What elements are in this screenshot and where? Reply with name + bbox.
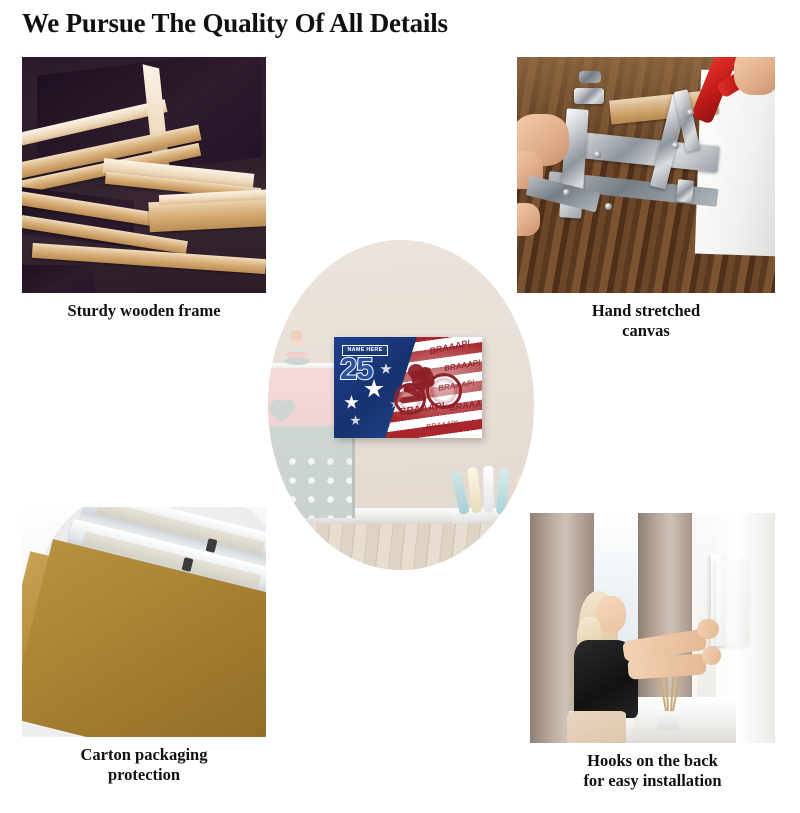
toy-stacking-rings [284, 357, 310, 365]
toy-ring [286, 351, 308, 358]
dresser-dots [268, 446, 352, 518]
caption-line: Hooks on the back [530, 751, 775, 771]
caption-line: for easy installation [530, 771, 775, 791]
feature-panel-hooks-on-back: Hooks on the back for easy installation [530, 513, 775, 813]
feature-panel-sturdy-wooden-frame: Sturdy wooden frame [22, 57, 266, 357]
toy-crown [291, 330, 302, 341]
caption-line: protection [22, 765, 266, 785]
center-room-mockup: NAME HERE 25 BRAAAP! BRAAAP! BRAAAP! BRA… [268, 240, 534, 570]
caption-line: Hand stretched [517, 301, 775, 321]
caption-line: canvas [517, 321, 775, 341]
photo-carton-packaging [22, 507, 266, 737]
caption-hooks-on-back: Hooks on the back for easy installation [530, 751, 775, 791]
caption-hand-stretched-canvas: Hand stretched canvas [517, 301, 775, 341]
photo-sturdy-wooden-frame [22, 57, 266, 293]
paper-roll [483, 466, 494, 513]
infographic-page: We Pursue The Quality Of All Details [0, 0, 800, 800]
photo-hooks-on-back [530, 513, 775, 743]
page-title: We Pursue The Quality Of All Details [22, 8, 448, 39]
caption-carton-packaging: Carton packaging protection [22, 745, 266, 785]
hung-canvas-artwork: NAME HERE 25 BRAAAP! BRAAAP! BRAAAP! BRA… [334, 337, 482, 438]
feature-panel-carton-packaging: Carton packaging protection [22, 507, 266, 807]
toy-ring [288, 346, 306, 352]
caption-line: Carton packaging [22, 745, 266, 765]
photo-hand-stretched-canvas [517, 57, 775, 293]
feature-panel-hand-stretched-canvas: Hand stretched canvas [517, 57, 775, 357]
caption-sturdy-wooden-frame: Sturdy wooden frame [22, 301, 266, 321]
artwork-number: 25 [340, 353, 372, 384]
caption-line: Sturdy wooden frame [22, 301, 266, 321]
